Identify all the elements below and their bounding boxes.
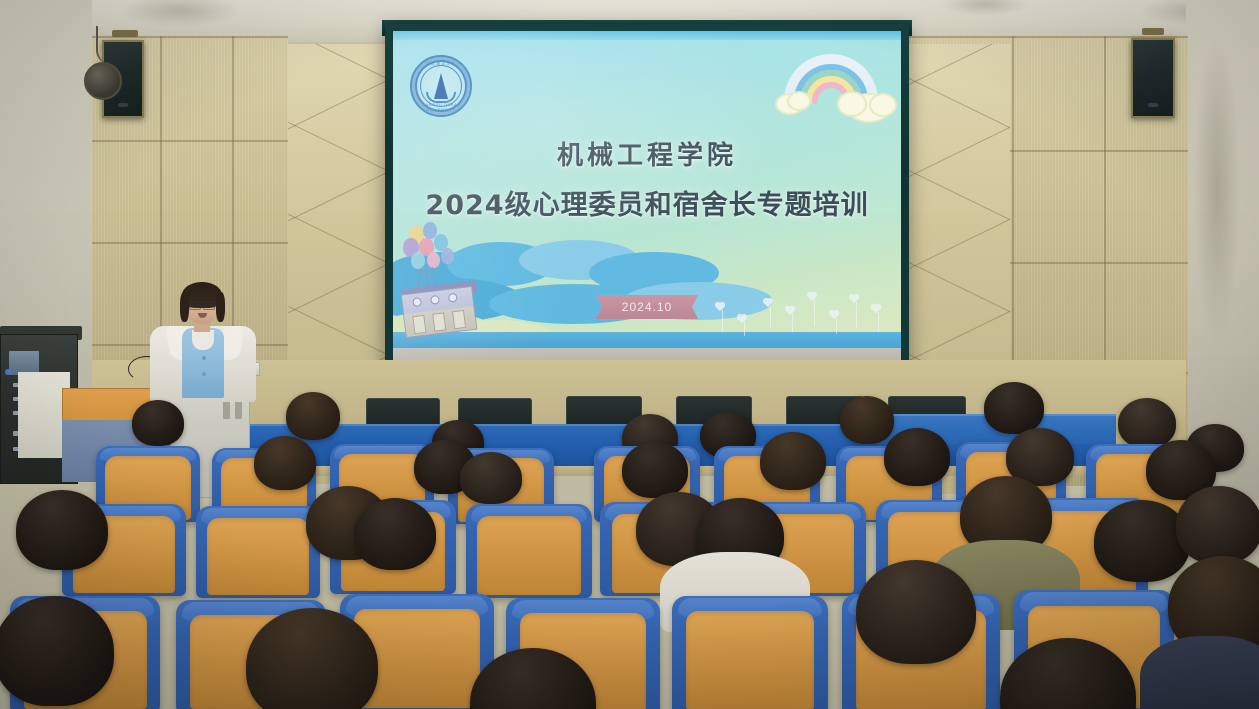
balloon-icon	[441, 248, 454, 264]
projection-screen-surface: 江苏海洋大学 JIANGSU OCEAN UNIVERSITY 机械工程学院 2…	[393, 31, 901, 372]
audience-head	[984, 382, 1044, 434]
crest-bottom-text: JIANGSU OCEAN UNIVERSITY	[412, 102, 470, 112]
wood-seam	[92, 242, 288, 244]
audience-head	[286, 392, 340, 440]
crest-arc-text: 江苏海洋大学	[412, 61, 470, 67]
balloon-house-decoration-icon	[401, 224, 479, 336]
rainbow-decoration-icon	[781, 49, 891, 111]
lecture-hall-photo: 江苏海洋大学 JIANGSU OCEAN UNIVERSITY 机械工程学院 2…	[0, 0, 1259, 709]
speaker-cable	[96, 26, 110, 64]
wall-dial-icon	[84, 62, 122, 100]
cloud-icon	[839, 93, 865, 115]
presenter-hair-side	[216, 292, 225, 322]
audience-head	[354, 498, 436, 570]
audience-head	[760, 432, 826, 490]
audience-head	[1176, 486, 1259, 564]
audience-head	[132, 400, 184, 446]
presenter-glasses-icon	[189, 300, 215, 307]
slide-title-line-2: 2024级心理委员和宿舍长专题培训	[393, 183, 901, 222]
auditorium-seat	[466, 504, 592, 598]
audience-head	[254, 436, 316, 490]
speaker-bracket-left	[112, 30, 138, 37]
slide-date-badge: 2024.10	[596, 295, 698, 319]
slide-top-band	[393, 31, 901, 40]
audience-head	[856, 560, 976, 664]
wall-speaker-right-icon	[1131, 38, 1175, 118]
speaker-bracket-right	[1142, 28, 1164, 35]
projection-screen-frame: 江苏海洋大学 JIANGSU OCEAN UNIVERSITY 机械工程学院 2…	[385, 24, 909, 381]
audience-head	[16, 490, 108, 570]
audience-head	[884, 428, 950, 486]
wood-seam	[92, 140, 288, 142]
presenter-hair-side	[180, 292, 189, 322]
audience-head	[460, 452, 522, 504]
audience-head	[622, 442, 688, 498]
presenter-shirt	[192, 330, 214, 350]
cloud-icon	[871, 95, 895, 115]
auditorium-seat	[672, 596, 828, 709]
cloud-icon	[789, 93, 809, 109]
balloon-icon	[427, 252, 440, 268]
audience-head	[1118, 398, 1176, 448]
balloon-icon	[411, 252, 425, 269]
auditorium-seat	[196, 506, 320, 598]
university-crest-icon: 江苏海洋大学 JIANGSU OCEAN UNIVERSITY	[410, 55, 472, 117]
slide-title-line-1: 机械工程学院	[393, 135, 901, 172]
presentation-slide: 江苏海洋大学 JIANGSU OCEAN UNIVERSITY 机械工程学院 2…	[393, 31, 901, 372]
audience-head	[840, 396, 894, 444]
audience-shoulder	[1140, 636, 1259, 709]
house-body	[401, 286, 478, 338]
audience-head	[0, 596, 114, 706]
audience-head	[1094, 500, 1190, 582]
